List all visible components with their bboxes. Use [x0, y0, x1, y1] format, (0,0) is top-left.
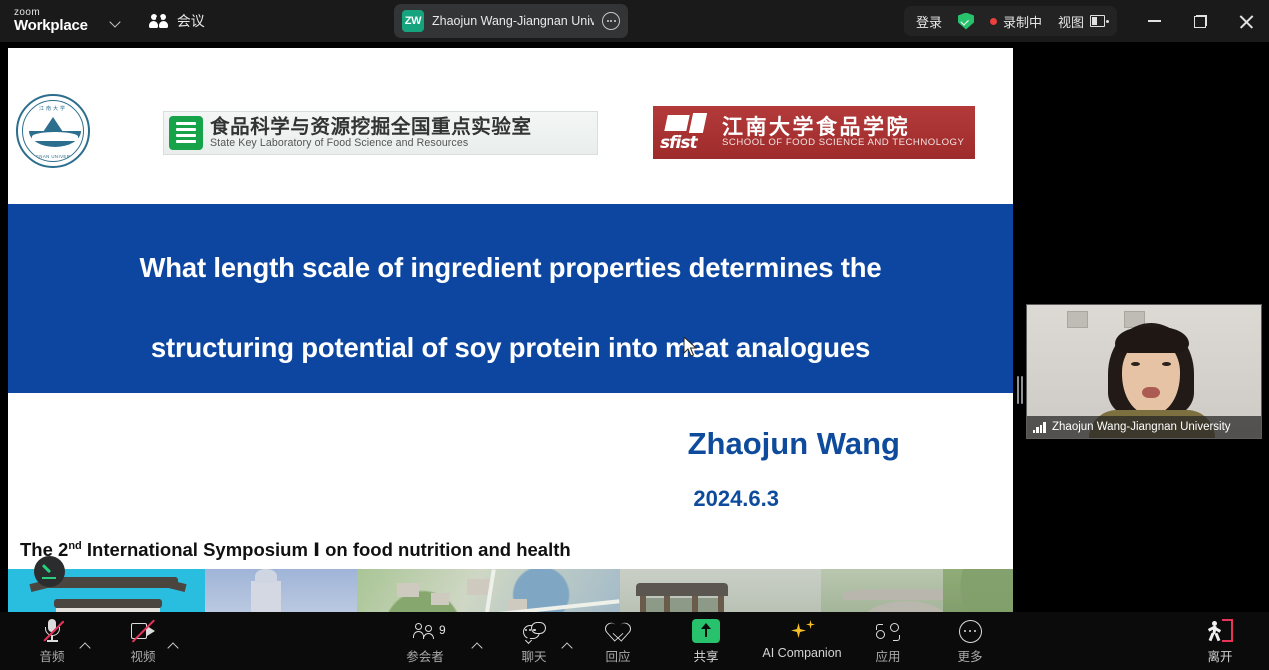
state-key-lab-logo: 食品科学与资源挖掘全国重点实验室 State Key Laboratory of…: [163, 111, 598, 155]
drag-handle-icon[interactable]: [1016, 374, 1024, 406]
participant-bangs: [1115, 327, 1189, 353]
shield-check-icon: [958, 13, 974, 30]
video-label: 视频: [130, 646, 155, 665]
workplace-wordmark: Workplace: [14, 18, 88, 33]
school-of-food-science-logo: sfist 江南大学食品学院 SCHOOL OF FOOD SCIENCE AN…: [653, 106, 975, 159]
participant-eye: [1131, 362, 1140, 366]
lab-name-en: State Key Laboratory of Food Science and…: [210, 138, 532, 149]
participant-video-tile[interactable]: Zhaojun Wang-Jiangnan University: [1026, 304, 1262, 439]
participant-name: Zhaojun Wang-Jiangnan University: [1052, 421, 1231, 433]
symposium-rest: International Symposium Ⅰ on food nutrit…: [82, 539, 571, 560]
title-bar: zoom Workplace 会议 ZW Zhaojun Wang-Jiangn…: [0, 0, 1269, 42]
symposium-ordinal-suffix: nd: [68, 540, 81, 552]
chat-options-chevron-icon[interactable]: [560, 638, 574, 652]
video-button[interactable]: 视频: [113, 618, 173, 666]
participant-eye: [1162, 362, 1171, 366]
people-icon: [149, 14, 169, 29]
encryption-status[interactable]: [950, 13, 982, 30]
restore-icon: [1194, 15, 1207, 28]
window-maximize-button[interactable]: [1177, 0, 1223, 42]
wall-frame-decor: [1067, 311, 1088, 328]
window-close-button[interactable]: [1223, 0, 1269, 42]
title-bar-right: 登录 录制中 视图: [904, 0, 1269, 42]
chat-label: 聊天: [521, 646, 546, 665]
audio-options-chevron-icon[interactable]: [78, 638, 92, 652]
reactions-button[interactable]: 回应: [588, 618, 648, 666]
slide-header: 江南大学 JIANGNAN UNIVERSITY 食品科学与资源挖掘全国重点实验…: [8, 48, 1013, 152]
view-label: 视图: [1058, 12, 1084, 31]
recording-status[interactable]: 录制中: [982, 12, 1050, 31]
share-screen-button[interactable]: 共享: [676, 618, 736, 666]
audio-label: 音频: [39, 646, 64, 665]
meetings-nav-button[interactable]: 会议: [141, 6, 213, 36]
participants-icon: 9: [414, 623, 436, 640]
video-options-chevron-icon[interactable]: [166, 638, 180, 652]
annotate-button[interactable]: [34, 556, 65, 587]
chat-button[interactable]: 聊天: [504, 618, 564, 666]
minimize-icon: [1148, 20, 1161, 22]
avatar: ZW: [402, 10, 424, 32]
chat-icon: [523, 622, 546, 641]
school-name-en: SCHOOL OF FOOD SCIENCE AND TECHNOLOGY: [722, 138, 964, 148]
participants-count: 9: [439, 623, 446, 637]
view-button[interactable]: 视图: [1050, 12, 1113, 31]
apps-icon: [876, 622, 900, 641]
reactions-heart-icon: [607, 622, 629, 641]
meeting-toolbar: 音频 视频 9 参会者 聊天 回应 共享 AI Companion: [0, 612, 1269, 670]
meeting-stage: 江南大学 JIANGNAN UNIVERSITY 食品科学与资源挖掘全国重点实验…: [0, 42, 1269, 612]
participants-button[interactable]: 9 参会者: [395, 618, 455, 666]
participant-mouth: [1142, 387, 1160, 398]
jiangnan-university-seal-icon: 江南大学 JIANGNAN UNIVERSITY: [16, 94, 90, 168]
presentation-date: 2024.6.3: [8, 486, 1013, 512]
more-options-button[interactable]: 更多: [940, 618, 1000, 666]
zoom-workplace-logo: zoom Workplace: [14, 8, 88, 34]
login-button[interactable]: 登录: [908, 12, 950, 31]
slide-title-line-2: structuring potential of soy protein int…: [8, 332, 1013, 364]
meeting-tab-title: Zhaojun Wang-Jiangnan Universi: [432, 14, 594, 28]
seal-top-text: 江南大学: [23, 105, 83, 112]
apps-button[interactable]: 应用: [858, 618, 918, 666]
sfist-mark-icon: sfist: [658, 111, 722, 155]
share-screen-icon: [692, 619, 720, 643]
leave-meeting-icon: [1207, 619, 1233, 643]
microphone-muted-icon: [44, 619, 61, 643]
video-tile-label: Zhaojun Wang-Jiangnan University: [1027, 416, 1261, 438]
share-label: 共享: [693, 646, 718, 665]
ai-companion-label: AI Companion: [762, 646, 841, 660]
school-name-cn: 江南大学食品学院: [722, 116, 964, 138]
sparkle-icon: [789, 620, 815, 642]
video-muted-icon: [131, 623, 155, 639]
participants-options-chevron-icon[interactable]: [470, 638, 484, 652]
window-minimize-button[interactable]: [1131, 0, 1177, 42]
symposium-line: The 2nd International Symposium Ⅰ on foo…: [20, 539, 571, 561]
meetings-label: 会议: [177, 11, 205, 31]
ellipsis-circle-icon: [959, 620, 982, 643]
title-bar-left: zoom Workplace 会议: [0, 0, 213, 42]
recording-label: 录制中: [1003, 12, 1042, 31]
chevron-down-icon[interactable]: [110, 16, 121, 27]
leave-label: 离开: [1207, 646, 1232, 665]
ai-companion-button[interactable]: AI Companion: [756, 618, 848, 666]
record-dot-icon: [990, 18, 997, 25]
sfist-wordmark: sfist: [660, 133, 697, 153]
lab-name-cn: 食品科学与资源挖掘全国重点实验室: [210, 117, 532, 138]
close-icon: [1239, 14, 1253, 28]
apps-label: 应用: [875, 646, 900, 665]
more-label: 更多: [957, 646, 982, 665]
meeting-status-pill: 登录 录制中 视图: [904, 6, 1117, 36]
seal-bottom-text: JIANGNAN UNIVERSITY: [23, 154, 83, 159]
pencil-icon: [41, 563, 58, 580]
reactions-label: 回应: [605, 646, 630, 665]
slide-title-line-1: What length scale of ingredient properti…: [8, 252, 1013, 284]
presenter-name: Zhaojun Wang: [8, 426, 1013, 462]
mouse-pointer-icon: [683, 337, 697, 357]
ellipsis-icon[interactable]: [602, 12, 620, 30]
leave-meeting-button[interactable]: 离开: [1190, 618, 1250, 666]
participants-label: 参会者: [406, 646, 444, 665]
audio-button[interactable]: 音频: [22, 618, 82, 666]
shared-screen-slide[interactable]: 江南大学 JIANGNAN UNIVERSITY 食品科学与资源挖掘全国重点实验…: [8, 48, 1013, 655]
signal-bars-icon: [1033, 422, 1046, 433]
login-label: 登录: [916, 12, 942, 31]
slide-title-band: What length scale of ingredient properti…: [8, 204, 1013, 393]
state-key-lab-mark-icon: [169, 116, 203, 150]
layout-icon: [1090, 15, 1105, 27]
meeting-tab[interactable]: ZW Zhaojun Wang-Jiangnan Universi: [394, 4, 628, 38]
